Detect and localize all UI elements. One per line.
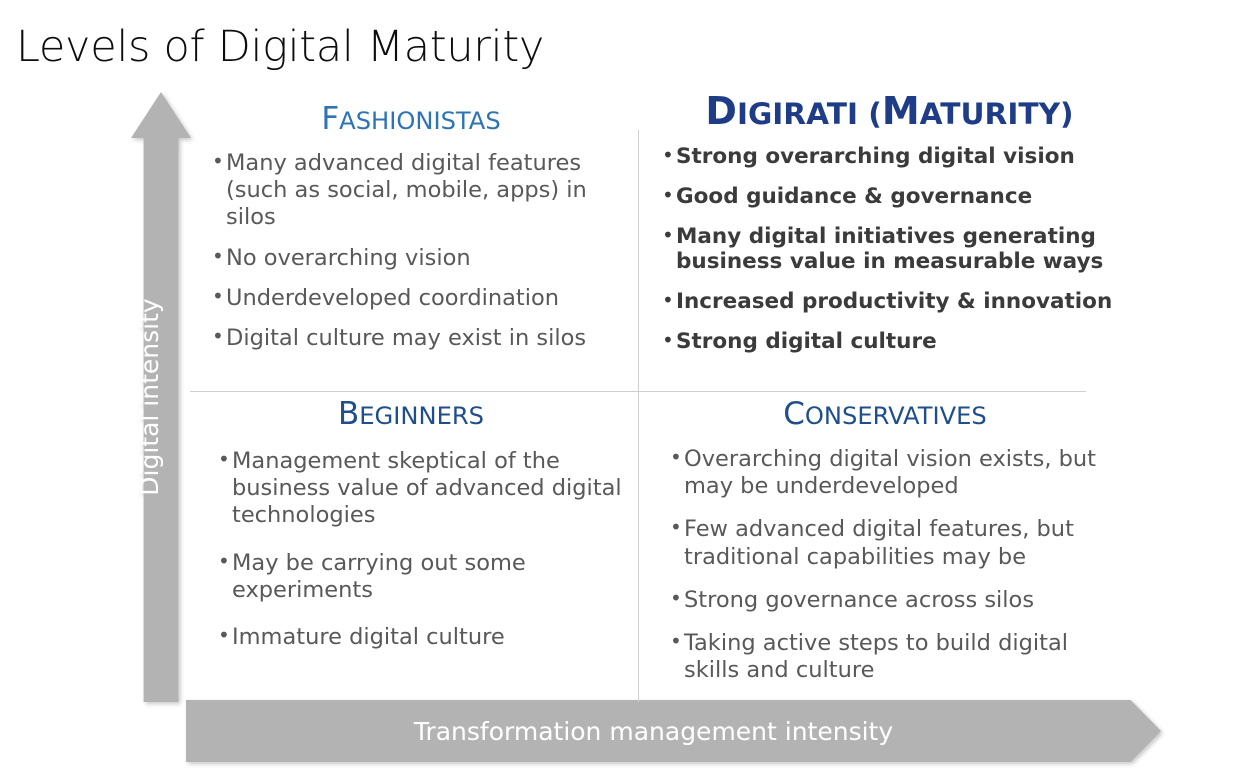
list-item: Digital culture may exist in silos — [212, 325, 626, 352]
horizontal-axis-label: Transformation management intensity — [186, 700, 1121, 762]
quadrant-title-body: EGINNERS — [359, 402, 484, 430]
quadrant-beginners: BEGINNERS Management skeptical of the bu… — [196, 399, 626, 671]
quadrant-digirati: DIGIRATI (MATURITY) Strong overarching d… — [652, 92, 1127, 369]
quadrant-title-beginners: BEGINNERS — [196, 399, 626, 430]
list-item: Increased productivity & innovation — [662, 289, 1127, 315]
page-title: Levels of Digital Maturity — [16, 22, 544, 72]
quadrant-title-initial: B — [338, 396, 359, 432]
quadrant-title-body: ONSERVATIVES — [805, 402, 987, 430]
quadrant-title-initial: C — [783, 396, 805, 432]
quadrant-title-initial: D — [705, 89, 737, 133]
quadrant-divider-vertical — [638, 130, 639, 702]
quadrant-bullet-list-digirati: Strong overarching digital vision Good g… — [662, 144, 1127, 355]
quadrant-title-conservatives: CONSERVATIVES — [660, 399, 1110, 430]
list-item: Strong digital culture — [662, 329, 1127, 355]
list-item: Overarching digital vision exists, but m… — [670, 446, 1110, 500]
horizontal-axis-arrow: Transformation management intensity — [186, 700, 1161, 762]
quadrant-title-fashionistas: FASHIONISTAS — [196, 104, 626, 135]
quadrant-conservatives: CONSERVATIVES Overarching digital vision… — [660, 399, 1110, 701]
quadrant-title-body-secondary: ATURITY) — [920, 96, 1074, 131]
list-item: No overarching vision — [212, 245, 626, 272]
quadrant-bullet-list-fashionistas: Many advanced digital features (such as … — [212, 150, 626, 352]
list-item: Few advanced digital features, but tradi… — [670, 516, 1110, 570]
list-item: Many digital initiatives generating busi… — [662, 224, 1127, 276]
list-item: Taking active steps to build digital ski… — [670, 630, 1110, 684]
quadrant-title-digirati: DIGIRATI (MATURITY) — [652, 92, 1127, 130]
quadrant-bullet-list-conservatives: Overarching digital vision exists, but m… — [670, 446, 1110, 685]
quadrant-bullet-list-beginners: Management skeptical of the business val… — [218, 448, 626, 651]
list-item: Management skeptical of the business val… — [218, 448, 626, 530]
list-item: Many advanced digital features (such as … — [212, 150, 626, 232]
quadrant-fashionistas: FASHIONISTAS Many advanced digital featu… — [196, 104, 626, 365]
list-item: Strong governance across silos — [670, 587, 1110, 614]
quadrant-title-body: IGIRATI ( — [737, 96, 882, 131]
vertical-axis-label: Digital intensity — [131, 92, 191, 702]
list-item: Good guidance & governance — [662, 184, 1127, 210]
list-item: Underdeveloped coordination — [212, 285, 626, 312]
list-item: Immature digital culture — [218, 624, 626, 651]
vertical-axis-arrow: Digital intensity — [131, 92, 191, 702]
quadrant-title-body: ASHIONISTAS — [339, 107, 501, 135]
quadrant-title-initial: F — [321, 101, 339, 137]
quadrant-title-initial-secondary: M — [882, 89, 920, 133]
list-item: Strong overarching digital vision — [662, 144, 1127, 170]
list-item: May be carrying out some experiments — [218, 550, 626, 604]
